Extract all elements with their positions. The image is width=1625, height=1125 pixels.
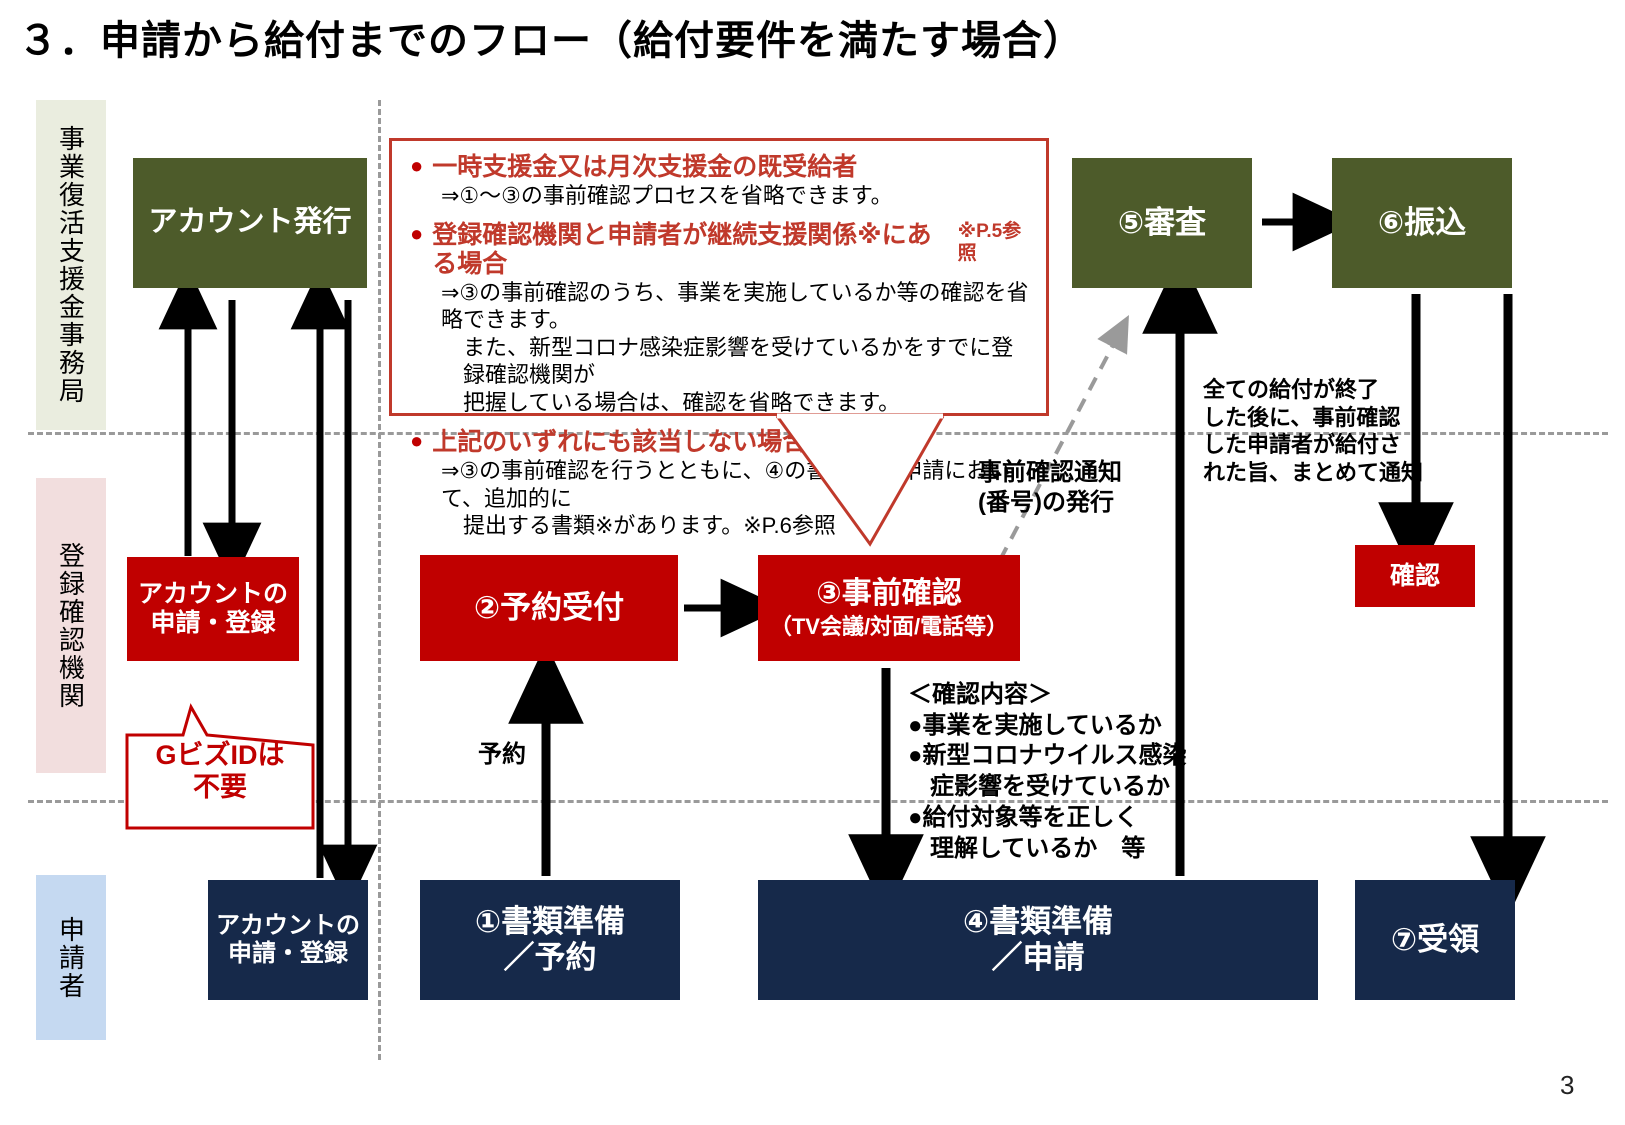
- callout-note-1-head: ● 一時支援金又は月次支援金の既受給者: [410, 153, 1032, 182]
- box-document-preparation-application[interactable]: ④書類準備 ／申請: [758, 880, 1318, 1000]
- annotation-check-content-item-3-line1: ●給付対象等を正しく: [908, 803, 1187, 834]
- callout-note-1: ● 一時支援金又は月次支援金の既受給者 ⇒①～③の事前確認プロセスを省略できます…: [410, 153, 1032, 209]
- box-screening-label: ⑤審査: [1118, 205, 1206, 241]
- annotation-all-benefits-line2: した後に、事前確認: [1203, 404, 1423, 432]
- box-account-application-organization-label-1: アカウントの: [138, 580, 288, 609]
- annotation-check-content-item-2-line2: 症影響を受けているか: [930, 772, 1187, 803]
- box-receipt-label: ⑦受領: [1391, 922, 1479, 958]
- callout-note-2-body: ⇒③の事前確認のうち、事業を実施しているか等の確認を省略できます。 また、新型コ…: [441, 279, 1032, 417]
- callout-note-1-body: ⇒①～③の事前確認プロセスを省略できます。: [441, 182, 1032, 210]
- annotation-check-content-title: ＜確認内容＞: [908, 680, 1187, 711]
- callout-note-1-head-text: 一時支援金又は月次支援金の既受給者: [432, 153, 857, 182]
- annotation-all-benefits-notice: 全ての給付が終了 した後に、事前確認 した申請者が給付さ れた旨、まとめて通知: [1203, 376, 1423, 486]
- annotation-preconfirmation-notice: 事前確認通知 (番号)の発行: [978, 458, 1122, 518]
- box-confirmation-label: 確認: [1390, 562, 1440, 591]
- lane-label-applicant: 申請者: [36, 875, 106, 1040]
- callout-exemption-notes: ● 一時支援金又は月次支援金の既受給者 ⇒①～③の事前確認プロセスを省略できます…: [389, 138, 1049, 416]
- lane-label-organization: 登録確認機関: [36, 478, 106, 773]
- annotation-preconfirmation-notice-line2: (番号)の発行: [978, 488, 1122, 518]
- box-screening[interactable]: ⑤審査: [1072, 158, 1252, 288]
- annotation-check-content: ＜確認内容＞ ●事業を実施しているか ●新型コロナウイルス感染 症影響を受けてい…: [908, 680, 1187, 864]
- box-account-issue[interactable]: アカウント発行: [133, 158, 367, 288]
- callout-note-2-body-line2: また、新型コロナ感染症影響を受けているかをすでに登録確認機関が: [463, 334, 1032, 389]
- annotation-all-benefits-line1: 全ての給付が終了: [1203, 376, 1423, 404]
- box-document-preparation-reservation-label-2: ／予約: [504, 940, 597, 976]
- annotation-all-benefits-line4: れた旨、まとめて通知: [1203, 459, 1423, 487]
- bullet-icon: ●: [410, 153, 423, 179]
- box-account-application-organization-label-2: 申請・登録: [150, 609, 275, 638]
- box-pre-confirmation[interactable]: ③事前確認 （TV会議/対面/電話等）: [758, 555, 1020, 661]
- callout-note-3-body-line2: 提出する書類※があります。※P.6参照: [463, 512, 1032, 540]
- box-document-preparation-reservation-label-1: ①書類準備: [475, 904, 625, 940]
- annotation-check-content-item-1-line1: ●事業を実施しているか: [908, 711, 1187, 742]
- callout-note-2: ● 登録確認機関と申請者が継続支援関係※にある場合 ※P.5参照 ⇒③の事前確認…: [410, 221, 1032, 416]
- page-number: 3: [1560, 1070, 1574, 1101]
- box-pre-confirmation-label: ③事前確認: [816, 577, 961, 612]
- annotation-check-content-item-3-line2: 理解しているか 等: [930, 834, 1187, 865]
- callout-note-3-head-text: 上記のいずれにも該当しない場合: [432, 428, 807, 457]
- box-transfer-label: ⑥振込: [1378, 205, 1466, 241]
- callout-gbizid-line2: 不要: [125, 772, 315, 804]
- callout-note-2-body-line1: ⇒③の事前確認のうち、事業を実施しているか等の確認を省略できます。: [441, 280, 1029, 333]
- box-document-preparation-application-label-1: ④書類準備: [963, 904, 1113, 940]
- callout-gbizid-text: GビズIDは 不要: [125, 740, 315, 810]
- box-reservation-acceptance[interactable]: ②予約受付: [420, 555, 678, 661]
- box-confirmation[interactable]: 確認: [1355, 545, 1475, 607]
- callout-gbizid-line1: GビズIDは: [125, 740, 315, 772]
- page-title: ３．申請から給付までのフロー（給付要件を満たす場合）: [18, 8, 1084, 66]
- callout-tail: [775, 416, 945, 546]
- bullet-icon: ●: [410, 221, 423, 247]
- annotation-check-content-item-2-line1: ●新型コロナウイルス感染: [908, 741, 1187, 772]
- box-reservation-acceptance-label: ②予約受付: [474, 590, 624, 626]
- lane-label-office: 事業復活支援金事務局: [36, 100, 106, 430]
- annotation-reservation-label: 予約: [478, 740, 526, 770]
- box-pre-confirmation-sublabel: （TV会議/対面/電話等）: [770, 614, 1008, 639]
- box-document-preparation-application-label-2: ／申請: [992, 940, 1085, 976]
- annotation-all-benefits-line3: した申請者が給付さ: [1203, 431, 1423, 459]
- box-account-application-applicant[interactable]: アカウントの 申請・登録: [208, 880, 368, 1000]
- annotation-preconfirmation-notice-line1: 事前確認通知: [978, 458, 1122, 488]
- box-document-preparation-reservation[interactable]: ①書類準備 ／予約: [420, 880, 680, 1000]
- bullet-icon: ●: [410, 428, 423, 454]
- box-transfer[interactable]: ⑥振込: [1332, 158, 1512, 288]
- callout-note-2-head-text: 登録確認機関と申請者が継続支援関係※にある場合: [432, 221, 949, 279]
- box-receipt[interactable]: ⑦受領: [1355, 880, 1515, 1000]
- callout-note-2-ref: ※P.5参照: [958, 221, 1032, 265]
- box-account-application-applicant-label-1: アカウントの: [216, 912, 360, 940]
- callout-note-2-body-line3: 把握している場合は、確認を省略できます。: [463, 389, 1032, 417]
- box-account-application-organization[interactable]: アカウントの 申請・登録: [127, 557, 299, 661]
- box-account-application-applicant-label-2: 申請・登録: [228, 940, 348, 968]
- callout-note-2-head: ● 登録確認機関と申請者が継続支援関係※にある場合 ※P.5参照: [410, 221, 1032, 279]
- box-account-issue-label: アカウント発行: [148, 206, 351, 239]
- phase-divider-vertical: [378, 100, 381, 1060]
- callout-note-1-body-line1: ⇒①～③の事前確認プロセスを省略できます。: [441, 183, 893, 208]
